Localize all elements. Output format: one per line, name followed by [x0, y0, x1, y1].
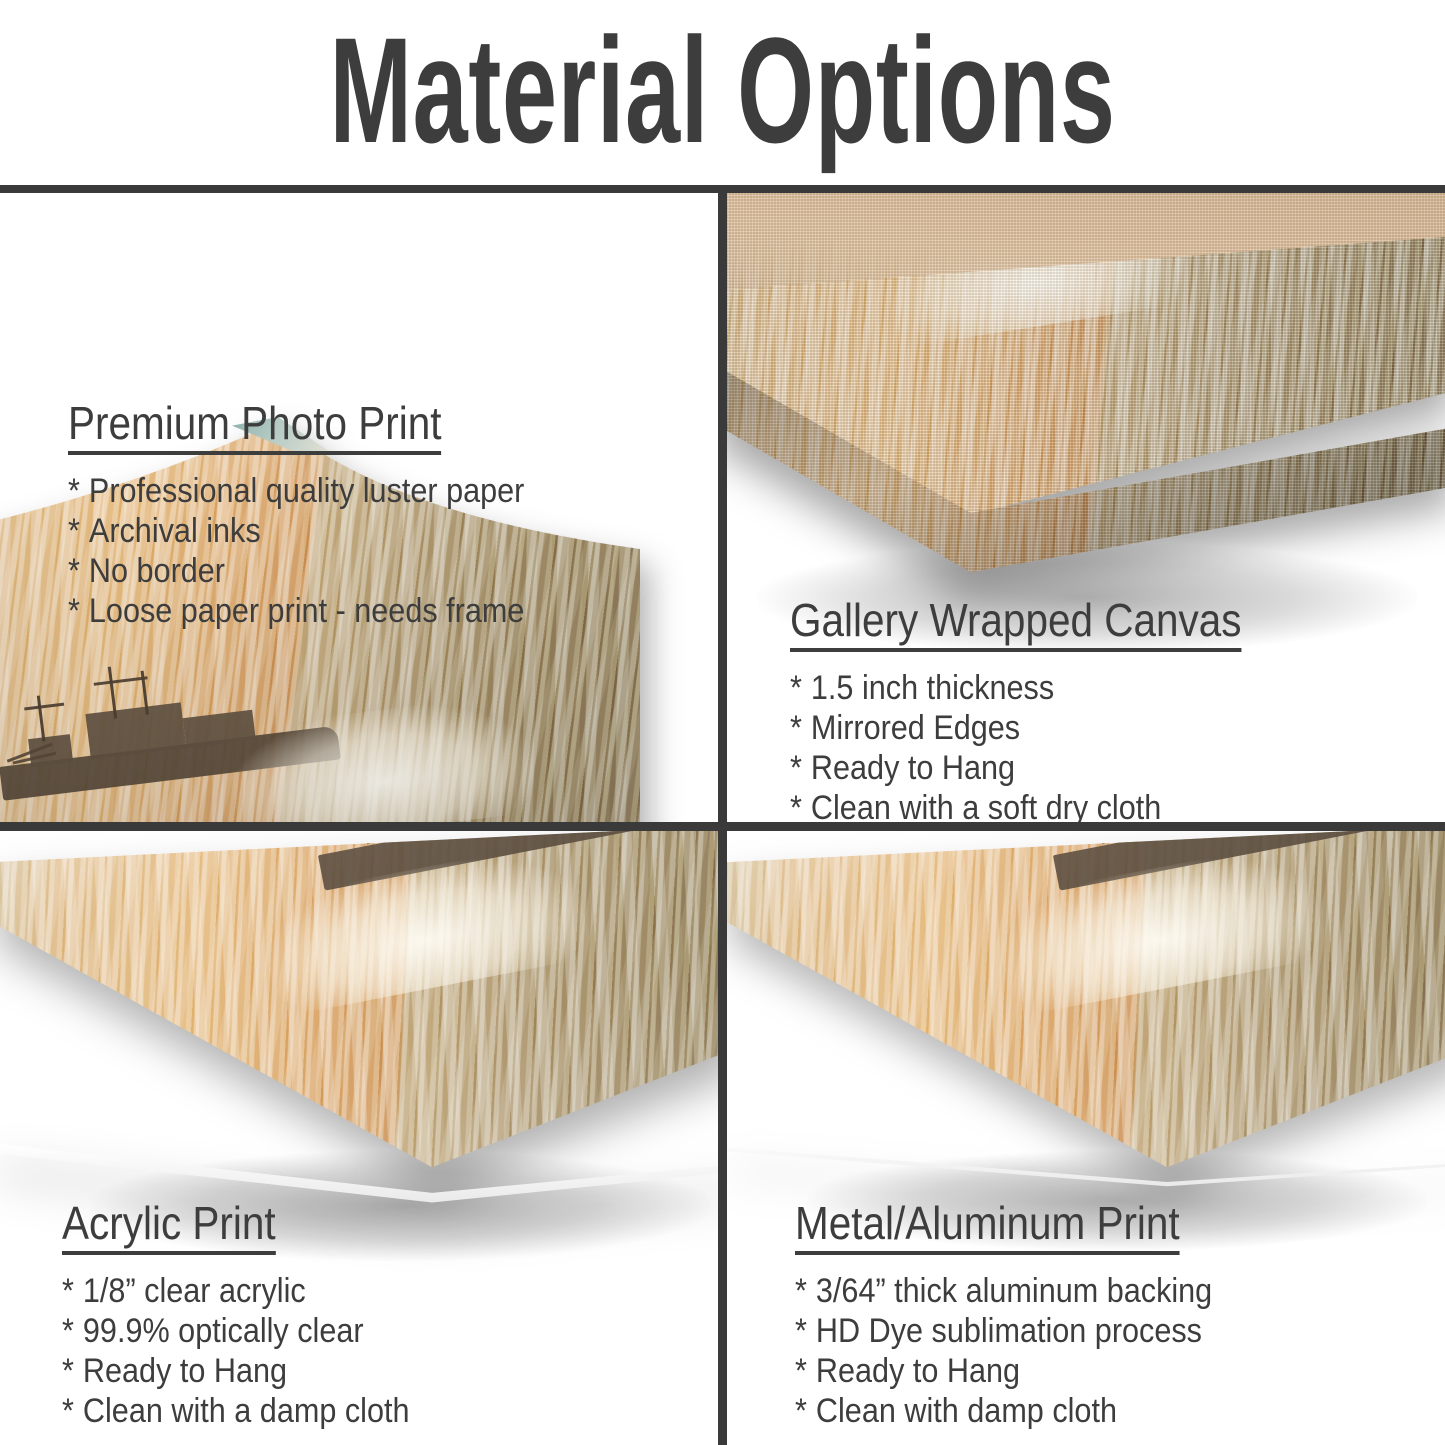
bullet-star-icon: * — [62, 1352, 74, 1390]
list-item-label: Ready to Hang — [811, 749, 1015, 787]
option-heading: Gallery Wrapped Canvas — [790, 595, 1241, 652]
list-item-label: HD Dye sublimation process — [816, 1312, 1202, 1350]
option-heading: Acrylic Print — [62, 1198, 276, 1255]
bullet-star-icon: * — [795, 1392, 807, 1430]
option-text-metal-aluminum-print: Metal/Aluminum Print *3/64” thick alumin… — [795, 1198, 1259, 1445]
bullet-star-icon: * — [68, 552, 80, 590]
sea-spray — [990, 839, 1327, 1018]
option-feature-list: *1.5 inch thickness *Mirrored Edges *Rea… — [790, 668, 1303, 822]
list-item-label: Loose paper print - needs frame — [89, 592, 524, 630]
list-item-label: 1.5 inch thickness — [811, 669, 1054, 707]
list-item-label: Mirrored Edges — [811, 709, 1020, 747]
sample-acrylic-print — [0, 831, 718, 1245]
list-item: *Clean with a damp cloth — [62, 1391, 409, 1431]
option-heading: Premium Photo Print — [68, 398, 441, 455]
list-item-label: 1/8” clear acrylic — [83, 1272, 306, 1310]
page-title-text: Material Options — [329, 15, 1115, 165]
bullet-star-icon: * — [62, 1272, 74, 1310]
list-item-label: Clean with damp cloth — [816, 1392, 1117, 1430]
metal-front-face — [727, 831, 1445, 1197]
list-item-label: Archival inks — [89, 512, 261, 550]
warship-silhouette — [299, 831, 701, 904]
material-options-infographic: Material Options — [0, 0, 1445, 1445]
list-item: *Ready to Hang — [62, 1351, 409, 1391]
sea-spray — [255, 839, 592, 1018]
option-feature-list: *3/64” thick aluminum backing *HD Dye su… — [795, 1271, 1259, 1431]
option-feature-list: *Professional quality luster paper *Arch… — [68, 471, 575, 631]
list-item-label: Ready to Hang — [816, 1352, 1020, 1390]
option-panel-acrylic-print: Acrylic Print *1/8” clear acrylic *99.9%… — [0, 831, 718, 1445]
bullet-star-icon: * — [795, 1312, 807, 1350]
list-item: *Professional quality luster paper — [68, 471, 524, 511]
bullet-star-icon: * — [68, 512, 80, 550]
list-item: *Clean with damp cloth — [795, 1391, 1212, 1431]
sample-metal-aluminum-print — [727, 831, 1445, 1245]
list-item: *HD Dye sublimation process — [795, 1311, 1212, 1351]
list-item: *1.5 inch thickness — [790, 668, 1252, 708]
list-item: *Mirrored Edges — [790, 708, 1252, 748]
warship-photo-metal — [727, 831, 1445, 1197]
list-item: *Archival inks — [68, 511, 524, 551]
bullet-star-icon: * — [790, 709, 802, 747]
list-item-label: 3/64” thick aluminum backing — [816, 1272, 1212, 1310]
list-item: *Ready to Hang — [790, 748, 1252, 788]
bullet-star-icon: * — [790, 789, 802, 822]
option-panel-metal-aluminum-print: Metal/Aluminum Print *3/64” thick alumin… — [727, 831, 1445, 1445]
option-feature-list: *1/8” clear acrylic *99.9% optically cle… — [62, 1271, 448, 1431]
bullet-star-icon: * — [68, 472, 80, 510]
acrylic-front-face — [0, 831, 718, 1197]
list-item: *Ready to Hang — [795, 1351, 1212, 1391]
warship-photo-acrylic — [0, 831, 718, 1197]
divider-vertical — [718, 185, 727, 1445]
option-text-gallery-wrapped-canvas: Gallery Wrapped Canvas *1.5 inch thickne… — [790, 595, 1303, 822]
list-item: *Clean with a soft dry cloth — [790, 788, 1252, 822]
list-item-label: Ready to Hang — [83, 1352, 287, 1390]
list-item: *Loose paper print - needs frame — [68, 591, 524, 631]
page-title: Material Options — [0, 0, 1445, 185]
bullet-star-icon: * — [68, 592, 80, 630]
option-panel-gallery-wrapped-canvas: Gallery Wrapped Canvas *1.5 inch thickne… — [727, 193, 1445, 822]
sea-spray — [226, 692, 538, 822]
bullet-star-icon: * — [795, 1352, 807, 1390]
list-item-label: Clean with a soft dry cloth — [811, 789, 1161, 822]
list-item: *1/8” clear acrylic — [62, 1271, 409, 1311]
sample-gallery-wrapped-canvas — [727, 193, 1445, 615]
option-panel-premium-photo-print: Premium Photo Print *Professional qualit… — [0, 193, 718, 822]
bullet-star-icon: * — [790, 669, 802, 707]
option-text-acrylic-print: Acrylic Print *1/8” clear acrylic *99.9%… — [62, 1198, 448, 1445]
bullet-star-icon: * — [62, 1392, 74, 1430]
list-item-label: 99.9% optically clear — [83, 1312, 364, 1350]
bullet-star-icon: * — [795, 1272, 807, 1310]
option-text-premium-photo-print: Premium Photo Print *Professional qualit… — [68, 398, 575, 647]
list-item-label: Clean with a damp cloth — [83, 1392, 410, 1430]
list-item-label: No border — [89, 552, 225, 590]
warship-silhouette — [1034, 831, 1436, 904]
list-item-label: Professional quality luster paper — [89, 472, 524, 510]
list-item: *99.9% optically clear — [62, 1311, 409, 1351]
option-heading: Metal/Aluminum Print — [795, 1198, 1180, 1255]
bullet-star-icon: * — [62, 1312, 74, 1350]
warship-silhouette — [0, 638, 362, 811]
bullet-star-icon: * — [790, 749, 802, 787]
list-item: *3/64” thick aluminum backing — [795, 1271, 1212, 1311]
list-item: *No border — [68, 551, 524, 591]
